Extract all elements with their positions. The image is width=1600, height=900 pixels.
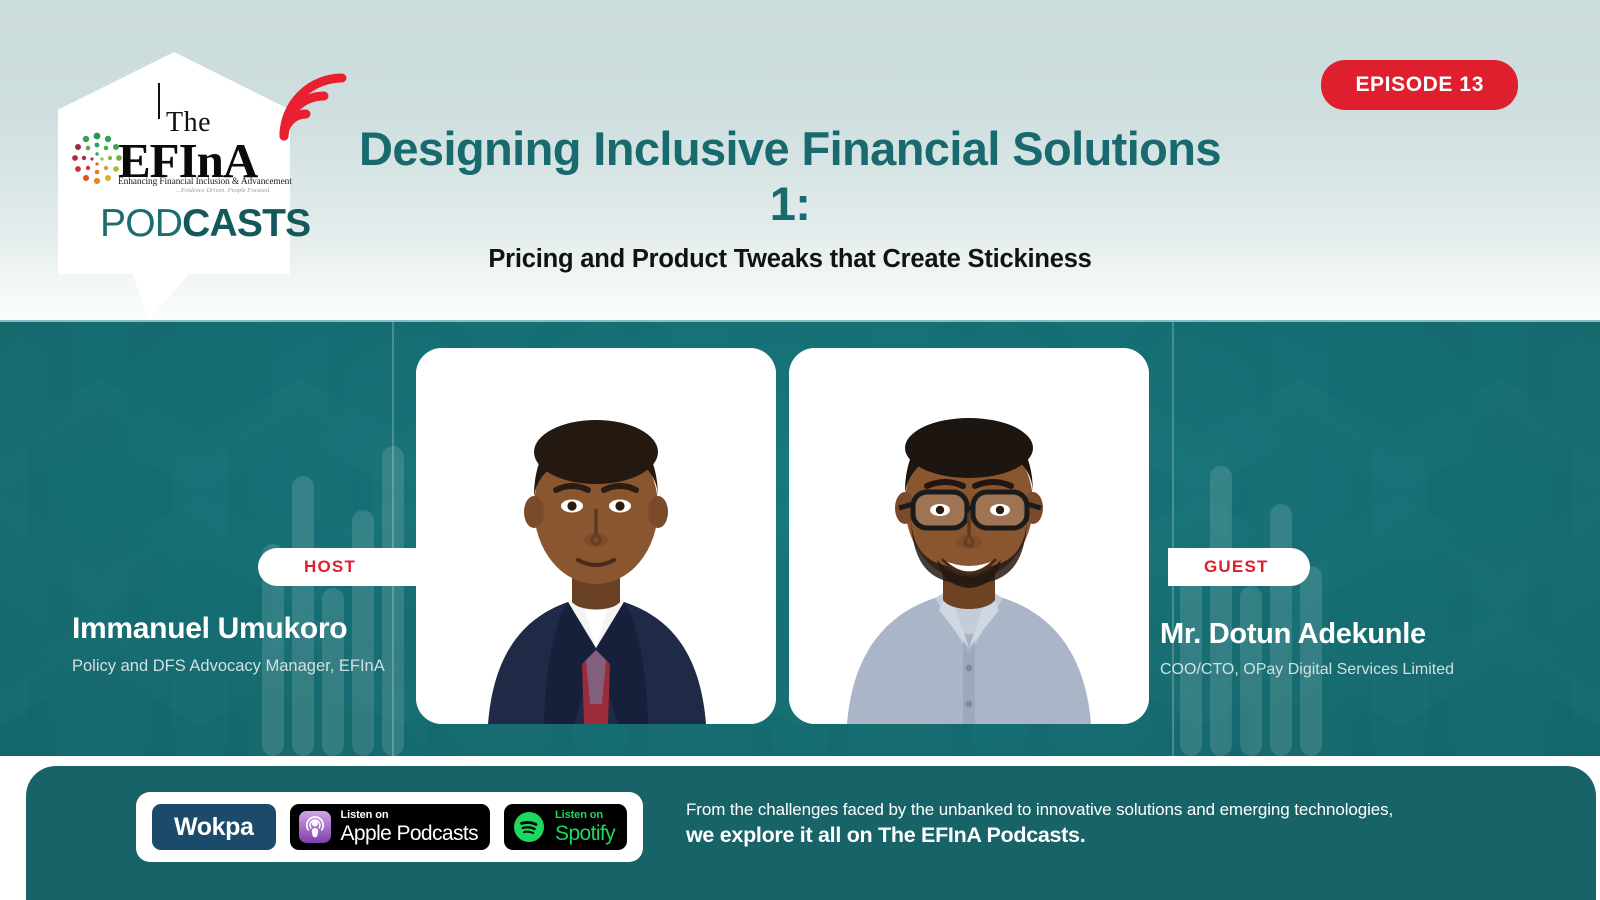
apple-podcasts-text: Listen on Apple Podcasts xyxy=(341,810,479,844)
spotify-badge[interactable]: Listen on Spotify xyxy=(504,804,627,850)
guest-info: Mr. Dotun Adekunle COO/CTO, OPay Digital… xyxy=(1160,618,1590,681)
podcast-promo-graphic: The EFInA Enhancing Financial Inclusion … xyxy=(0,0,1600,900)
footer-tagline: From the challenges faced by the unbanke… xyxy=(686,800,1546,848)
band-divider-right xyxy=(1172,322,1174,756)
guest-portrait xyxy=(789,348,1149,724)
host-name: Immanuel Umukoro xyxy=(72,612,402,646)
host-title: Policy and DFS Advocacy Manager, EFInA xyxy=(72,655,402,677)
episode-title: Designing Inclusive Financial Solutions … xyxy=(340,122,1240,232)
footer-tagline-line1: From the challenges faced by the unbanke… xyxy=(686,800,1546,820)
spotify-icon xyxy=(513,811,545,843)
waveform-bar xyxy=(382,446,404,756)
footer-tagline-line2: we explore it all on The EFInA Podcasts. xyxy=(686,823,1546,848)
wokpa-label: Wokpa xyxy=(174,813,254,842)
logo-tagline-sub: ...Evidence Driven. People Focused. xyxy=(176,187,271,194)
spotify-text: Listen on Spotify xyxy=(555,810,615,844)
waveform-bar xyxy=(1210,466,1232,756)
spotify-label: Spotify xyxy=(555,823,615,844)
host-role-badge: HOST xyxy=(258,548,446,586)
host-info: Immanuel Umukoro Policy and DFS Advocacy… xyxy=(72,612,402,677)
wokpa-badge[interactable]: Wokpa xyxy=(152,804,276,850)
waveform-right xyxy=(1180,322,1340,756)
efina-podcasts-logo: The EFInA Enhancing Financial Inclusion … xyxy=(58,52,308,307)
guest-title: COO/CTO, OPay Digital Services Limited xyxy=(1160,659,1590,681)
apple-podcasts-icon xyxy=(299,811,331,843)
guest-photo-card xyxy=(789,348,1149,724)
host-portrait xyxy=(416,348,776,724)
episode-number-badge: EPISODE 13 xyxy=(1321,60,1518,110)
spotify-listen-on-label: Listen on xyxy=(555,810,615,821)
apple-listen-on-label: Listen on xyxy=(341,810,479,821)
guest-name: Mr. Dotun Adekunle xyxy=(1160,618,1590,650)
episode-subtitle: Pricing and Product Tweaks that Create S… xyxy=(340,245,1240,274)
apple-podcasts-badge[interactable]: Listen on Apple Podcasts xyxy=(290,804,491,850)
logo-speech-tail xyxy=(130,268,194,320)
title-block: Designing Inclusive Financial Solutions … xyxy=(340,122,1240,274)
waveform-left xyxy=(258,322,408,756)
logo-podcasts-text: PODCASTS xyxy=(100,202,310,246)
header-band: The EFInA Enhancing Financial Inclusion … xyxy=(0,0,1600,322)
logo-casts-part: CASTS xyxy=(182,202,310,245)
host-photo-card xyxy=(416,348,776,724)
listen-platform-badges: Wokpa Listen on xyxy=(136,792,643,862)
guest-role-badge: GUEST xyxy=(1168,548,1310,586)
footer-bar: Wokpa Listen on xyxy=(26,766,1596,900)
logo-pod-part: POD xyxy=(100,202,182,245)
logo-tagline: Enhancing Financial Inclusion & Advancem… xyxy=(118,177,288,187)
apple-podcasts-label: Apple Podcasts xyxy=(341,823,479,844)
